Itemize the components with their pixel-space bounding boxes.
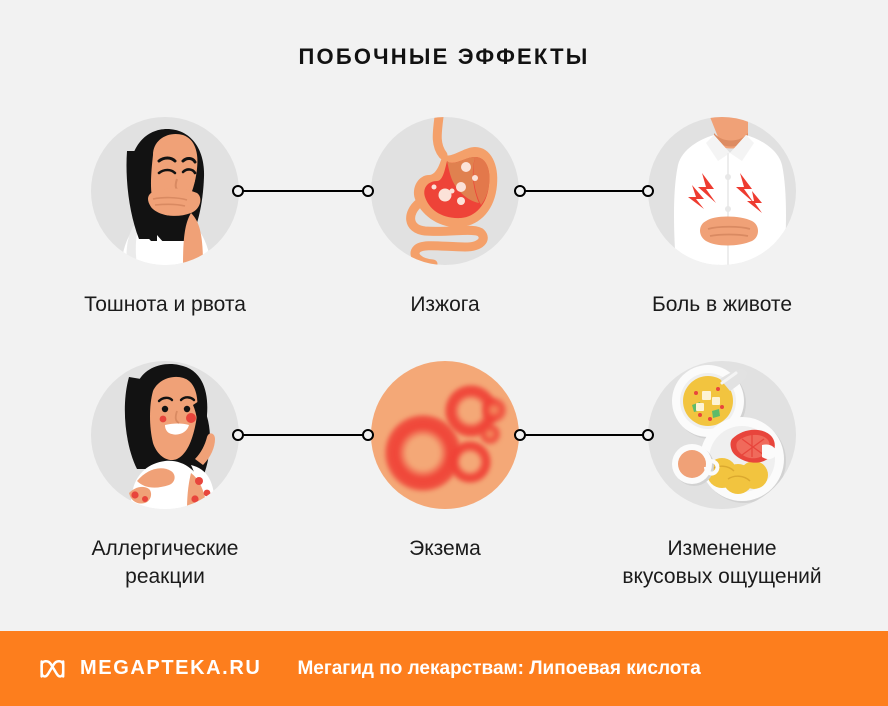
item-allergy: Аллергические реакции (35, 361, 295, 591)
eczema-skin-icon (371, 361, 519, 509)
logo-text: MEGAPTEKA.RU (80, 657, 261, 680)
item-label: Изменение вкусовых ощущений (592, 535, 852, 591)
stomach-heartburn-icon (371, 117, 519, 265)
item-label: Тошнота и рвота (35, 291, 295, 319)
infographic-page: ПОБОЧНЫЕ ЭФФЕКТЫ (0, 0, 888, 706)
item-nausea: Тошнота и рвота (35, 117, 295, 319)
item-eczema: Экзема (315, 361, 575, 563)
item-label: Аллергические реакции (35, 535, 295, 591)
footer-caption: Мегагид по лекарствам: Липоевая кислота (297, 658, 700, 680)
connector-line (238, 434, 368, 436)
connector-dot-right (362, 429, 374, 441)
woman-nausea-icon (91, 117, 239, 265)
megapteka-logo-icon (36, 654, 66, 684)
connector-dot-right (642, 185, 654, 197)
connector-nausea-heartburn (232, 185, 374, 197)
connector-dot-left (232, 185, 244, 197)
connector-dot-left (514, 429, 526, 441)
food-plates-icon (648, 361, 796, 509)
woman-allergy-icon (91, 361, 239, 509)
connector-line (238, 190, 368, 192)
connector-allergy-eczema (232, 429, 374, 441)
item-abdominal-pain: Боль в животе (592, 117, 852, 319)
connector-heartburn-pain (514, 185, 654, 197)
item-heartburn: Изжога (315, 117, 575, 319)
connector-dot-left (232, 429, 244, 441)
item-taste-change: Изменение вкусовых ощущений (592, 361, 852, 591)
connector-line (520, 190, 648, 192)
connector-dot-right (362, 185, 374, 197)
connector-eczema-taste (514, 429, 654, 441)
item-label: Изжога (315, 291, 575, 319)
page-title: ПОБОЧНЫЕ ЭФФЕКТЫ (0, 44, 888, 70)
footer-bar: MEGAPTEKA.RU Мегагид по лекарствам: Липо… (0, 631, 888, 706)
connector-dot-right (642, 429, 654, 441)
abdominal-pain-icon (648, 117, 796, 265)
connector-dot-left (514, 185, 526, 197)
item-label: Экзема (315, 535, 575, 563)
connector-line (520, 434, 648, 436)
item-label: Боль в животе (592, 291, 852, 319)
